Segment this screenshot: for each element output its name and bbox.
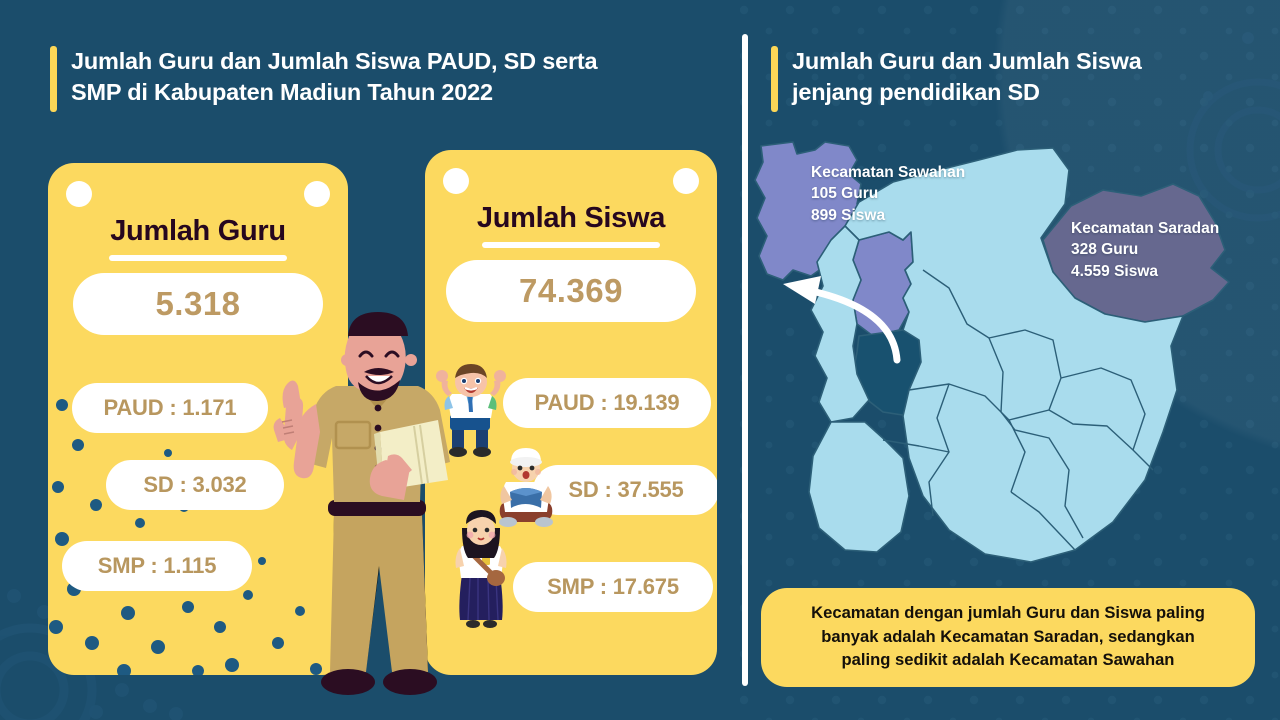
right-header-accent-bar [771,46,778,112]
card-hole-left [443,168,469,194]
card-title-guru: Jumlah Guru [48,215,348,248]
card-holes-guru [48,181,348,207]
pill-guru-paud: PAUD : 1.171 [72,383,268,433]
left-header: Jumlah Guru dan Jumlah Siswa PAUD, SD se… [50,46,710,112]
card-holes-siswa [425,168,717,194]
map-kabupaten-madiun[interactable]: Kecamatan Sawahan 105 Guru 899 Siswa Kec… [753,140,1273,570]
pill-siswa-smp: SMP : 17.675 [513,562,713,612]
map-label-sawahan: Kecamatan Sawahan 105 Guru 899 Siswa [811,162,965,226]
left-header-title: Jumlah Guru dan Jumlah Siswa PAUD, SD se… [71,46,597,109]
left-panel: Jumlah Guru dan Jumlah Siswa PAUD, SD se… [0,0,745,720]
pill-siswa-paud: PAUD : 19.139 [503,378,711,428]
right-header-title: Jumlah Guru dan Jumlah Siswa jenjang pen… [792,46,1142,109]
pill-guru-smp: SMP : 1.115 [62,541,252,591]
map-summary-note: Kecamatan dengan jumlah Guru dan Siswa p… [761,588,1255,687]
card-title-siswa: Jumlah Siswa [425,202,717,235]
curved-arrow-icon [775,228,945,368]
card-hole-right [304,181,330,207]
left-header-accent-bar [50,46,57,112]
card-hole-right [673,168,699,194]
student-smp-illustration [448,508,514,632]
right-panel: Jumlah Guru dan Jumlah Siswa jenjang pen… [745,0,1280,720]
pill-siswa-sd: SD : 37.555 [533,465,717,515]
card-rule-guru [109,255,287,261]
card-rule-siswa [482,242,660,248]
card-hole-left [66,181,92,207]
right-header: Jumlah Guru dan Jumlah Siswa jenjang pen… [771,46,1251,112]
map-label-saradan: Kecamatan Saradan 328 Guru 4.559 Siswa [1071,218,1219,282]
pill-guru-sd: SD : 3.032 [106,460,284,510]
